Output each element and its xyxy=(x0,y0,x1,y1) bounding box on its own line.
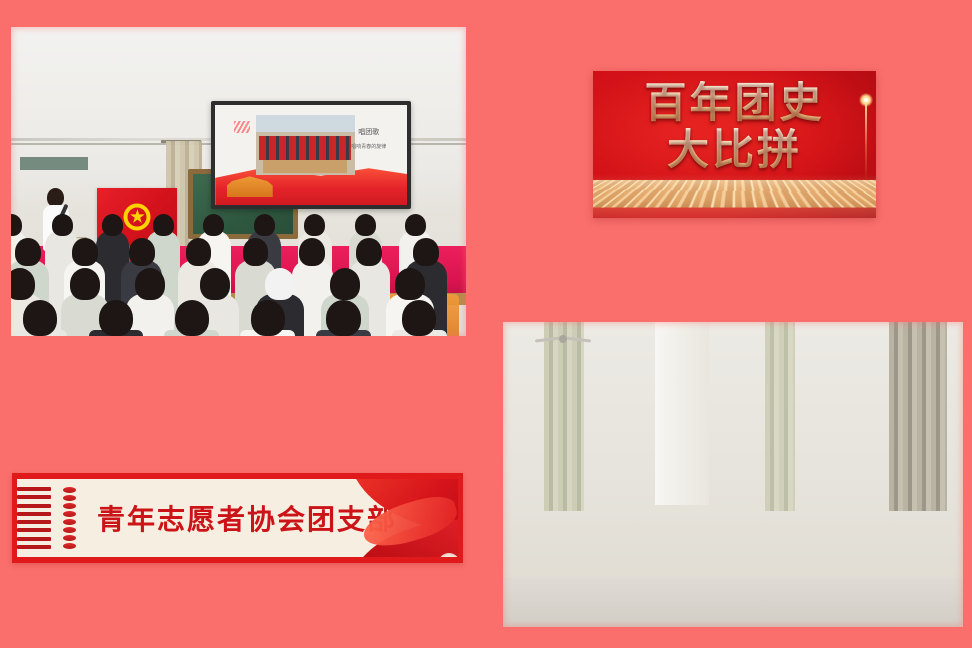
projector-screen: 唱团歌 唱响青春的旋律 xyxy=(211,101,411,209)
photo-volunteers-standing xyxy=(503,322,963,627)
slide-title: 唱团歌 xyxy=(340,127,398,140)
audience-head xyxy=(153,214,174,236)
audience-head xyxy=(405,214,426,236)
audience-head xyxy=(15,238,41,266)
banner-line-2: 大比拼 xyxy=(667,128,802,173)
ribbon-dot xyxy=(63,519,76,525)
ribbon-dot xyxy=(63,503,76,509)
audience-head xyxy=(135,268,165,300)
ribbon-dot xyxy=(63,543,76,549)
audience-head xyxy=(99,300,133,336)
ribbon-dot xyxy=(63,495,76,501)
audience-head xyxy=(330,268,360,300)
ribbon-dash xyxy=(17,495,51,499)
audience-head xyxy=(413,238,439,266)
sparkle-icon xyxy=(859,93,873,107)
ribbon-dash xyxy=(17,520,51,524)
audience-head xyxy=(402,300,436,336)
ribbon-dash xyxy=(17,537,51,541)
audience-head xyxy=(129,238,155,266)
audience-head xyxy=(11,268,35,300)
audience-head xyxy=(200,268,230,300)
audience-head xyxy=(299,238,325,266)
ribbon-dot xyxy=(63,527,76,533)
audience-head xyxy=(23,300,57,336)
ribbon-dash xyxy=(17,545,51,549)
banner-text-group: 百年团史 大比拼 xyxy=(593,81,876,172)
ribbon-dash xyxy=(17,512,51,516)
slide-photo-choir xyxy=(259,136,351,160)
audience-head xyxy=(52,214,73,236)
slide-confetti xyxy=(234,121,250,133)
tile-floor xyxy=(503,578,963,627)
ribbon-dot xyxy=(63,535,76,541)
title-ribbon-paper: 青年志愿者协会团支部 xyxy=(17,479,458,557)
audience-crowd xyxy=(11,212,466,336)
title-ribbon: 青年志愿者协会团支部 xyxy=(12,473,463,563)
room-curtain-left xyxy=(544,322,584,511)
ribbon-dot xyxy=(63,487,76,493)
audience-head xyxy=(395,268,425,300)
ribbon-dash-column xyxy=(17,487,59,549)
room-pillar xyxy=(655,322,709,505)
ribbon-silk-decoration xyxy=(314,479,458,557)
audience-head xyxy=(203,214,224,236)
room-curtain-mid xyxy=(765,322,795,511)
audience-head xyxy=(304,214,325,236)
slide-photo-desk xyxy=(263,160,347,173)
audience-head xyxy=(102,214,123,236)
audience-head xyxy=(175,300,209,336)
ribbon-dash xyxy=(17,487,51,491)
ribbon-dash xyxy=(17,528,51,532)
poster-canvas: 唱团歌 唱响青春的旋律 百年团史 大比拼 青年志愿者协 xyxy=(0,0,972,648)
banner-centenary-contest: 百年团史 大比拼 xyxy=(593,71,876,218)
wall-sign xyxy=(20,157,88,170)
fan-hub xyxy=(559,335,567,343)
banner-floor-glow xyxy=(593,174,876,218)
slide-text-block: 唱团歌 唱响青春的旋律 xyxy=(340,127,398,152)
presenter-head xyxy=(47,188,64,207)
photo-lecture-hall: 唱团歌 唱响青春的旋律 xyxy=(11,27,466,336)
audience-head xyxy=(72,238,98,266)
room-curtain-right xyxy=(889,322,947,511)
audience-head xyxy=(186,238,212,266)
audience-head xyxy=(251,300,285,336)
banner-line-1: 百年团史 xyxy=(644,81,824,126)
ceiling-fan-icon xyxy=(535,334,591,344)
audience-head xyxy=(326,300,360,336)
audience-head xyxy=(243,238,269,266)
ribbon-dot xyxy=(63,511,76,517)
audience-head xyxy=(356,238,382,266)
audience-head xyxy=(265,268,295,300)
audience-head xyxy=(254,214,275,236)
slide-subtitle: 唱响青春的旋律 xyxy=(351,144,386,150)
ribbon-dash xyxy=(17,504,51,508)
audience-head xyxy=(70,268,100,300)
audience-head xyxy=(355,214,376,236)
ribbon-dot-column xyxy=(63,487,76,549)
